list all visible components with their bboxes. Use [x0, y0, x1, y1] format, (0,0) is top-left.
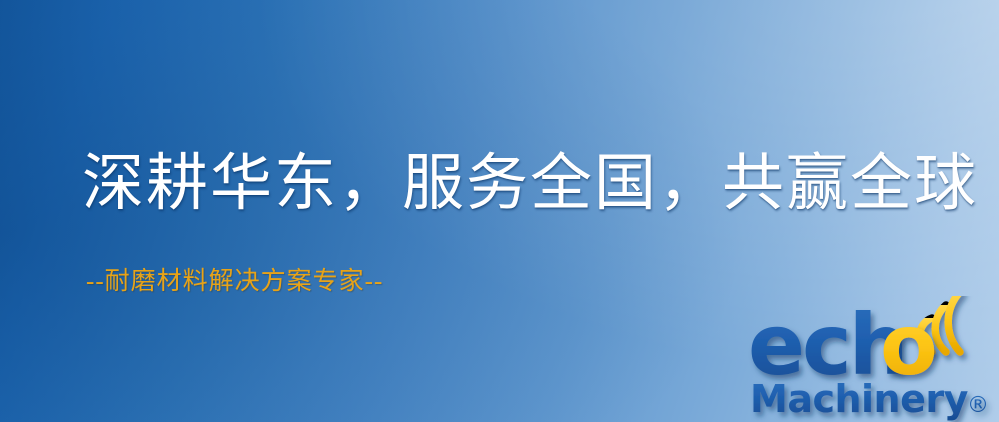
banner-headline: 深耕华东，服务全国，共赢全球 — [82, 152, 978, 217]
logo-tagline-text: Machinery — [750, 377, 969, 421]
banner-subtitle: --耐磨材料解决方案专家-- — [86, 268, 383, 296]
echo-machinery-logo: ech o Machinery ® — [748, 296, 999, 422]
hero-banner: 深耕华东，服务全国，共赢全球 --耐磨材料解决方案专家-- — [0, 0, 999, 422]
logo-tagline-machinery: Machinery ® — [750, 377, 989, 421]
registered-trademark-icon: ® — [967, 393, 989, 418]
logo-graphic: ech o Machinery ® — [748, 296, 999, 422]
